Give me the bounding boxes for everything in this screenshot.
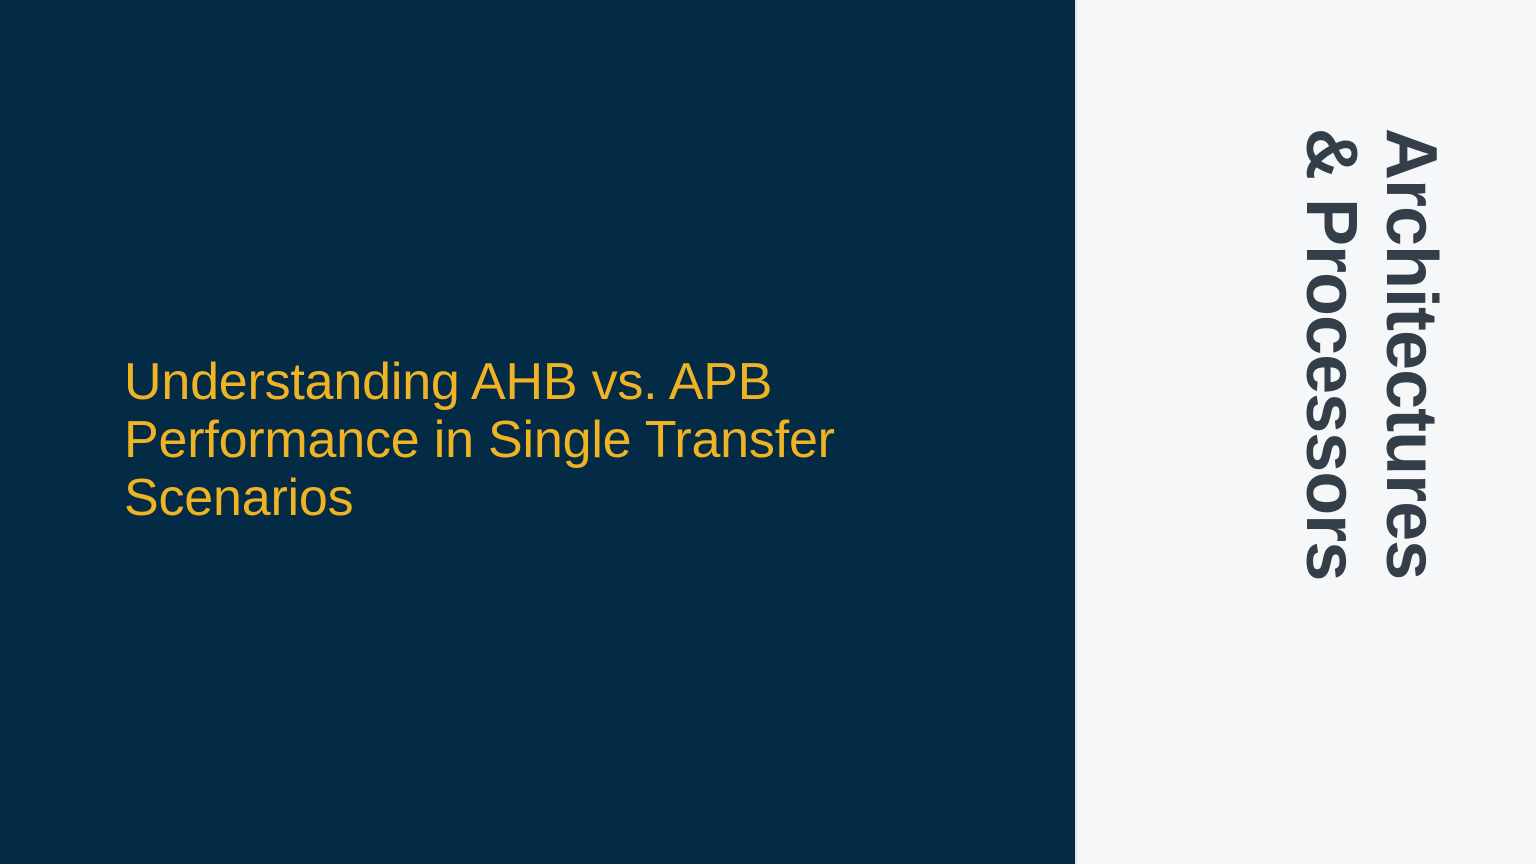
category-label-line-1: Architectures — [1375, 128, 1447, 579]
vertical-category-label: Architectures & Processors — [1075, 0, 1536, 864]
category-label-line-2: & Processors — [1295, 128, 1367, 580]
category-panel: Architectures & Processors — [1075, 0, 1536, 864]
panel-divider — [1075, 0, 1077, 864]
page-title: Understanding AHB vs. APB Performance in… — [124, 353, 1004, 527]
title-slide: Understanding AHB vs. APB Performance in… — [0, 0, 1536, 864]
title-block: Understanding AHB vs. APB Performance in… — [124, 353, 1004, 527]
title-panel: Understanding AHB vs. APB Performance in… — [0, 0, 1075, 864]
